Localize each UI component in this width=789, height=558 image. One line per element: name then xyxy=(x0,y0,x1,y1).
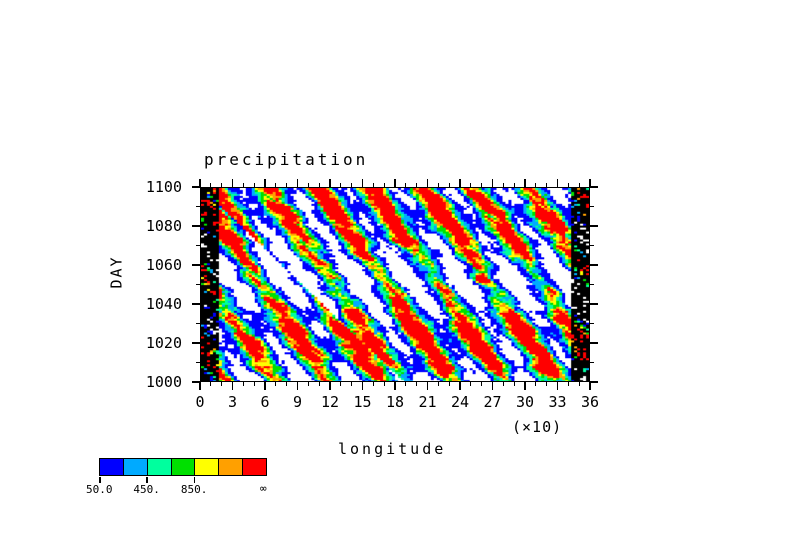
x-tick-minor xyxy=(308,382,309,386)
x-tick-minor-top xyxy=(210,183,211,187)
x-tick-major xyxy=(394,382,396,390)
x-tick-major xyxy=(297,382,299,390)
y-tick-major xyxy=(192,186,200,188)
y-tick-major-right xyxy=(590,342,598,344)
x-tick-major xyxy=(557,382,559,390)
x-tick-major-top xyxy=(524,179,526,187)
y-tick-minor xyxy=(196,284,200,285)
x-tick-major-top xyxy=(394,179,396,187)
y-tick-minor-right xyxy=(590,323,594,324)
y-tick-label: 1000 xyxy=(112,373,182,391)
x-tick-minor xyxy=(470,382,471,386)
y-tick-major-right xyxy=(590,264,598,266)
y-tick-major xyxy=(192,342,200,344)
x-tick-major xyxy=(199,382,201,390)
x-tick-minor-top xyxy=(568,183,569,187)
x-tick-minor xyxy=(481,382,482,386)
y-tick-minor xyxy=(196,362,200,363)
precipitation-heatmap xyxy=(201,188,589,381)
x-tick-minor xyxy=(503,382,504,386)
y-tick-major-right xyxy=(590,303,598,305)
x-tick-minor xyxy=(449,382,450,386)
x-tick-major xyxy=(492,382,494,390)
x-tick-minor-top xyxy=(254,183,255,187)
y-tick-major xyxy=(192,303,200,305)
colorbar-group: 50.0450.850.∞ xyxy=(99,458,267,476)
x-tick-minor-top xyxy=(546,183,547,187)
x-tick-minor xyxy=(416,382,417,386)
x-tick-minor-top xyxy=(438,183,439,187)
colorbar-swatch-0 xyxy=(100,459,123,475)
colorbar-swatch-5 xyxy=(218,459,242,475)
x-tick-minor xyxy=(210,382,211,386)
x-tick-minor-top xyxy=(275,183,276,187)
x-tick-minor-top xyxy=(579,183,580,187)
y-tick-major xyxy=(192,225,200,227)
x-tick-major-top xyxy=(427,179,429,187)
x-tick-minor-top xyxy=(384,183,385,187)
x-tick-major xyxy=(264,382,266,390)
y-tick-label: 1100 xyxy=(112,178,182,196)
x-tick-minor-top xyxy=(340,183,341,187)
colorbar-infinity-label: ∞ xyxy=(260,482,267,495)
x-tick-minor xyxy=(405,382,406,386)
x-tick-minor-top xyxy=(221,183,222,187)
y-tick-minor xyxy=(196,323,200,324)
x-tick-minor xyxy=(243,382,244,386)
x-tick-minor-top xyxy=(319,183,320,187)
x-axis-title: longitude xyxy=(338,440,446,458)
x-tick-major-top xyxy=(264,179,266,187)
x-tick-minor xyxy=(351,382,352,386)
y-tick-minor xyxy=(196,245,200,246)
x-tick-minor xyxy=(579,382,580,386)
x-tick-major xyxy=(524,382,526,390)
x-tick-major xyxy=(459,382,461,390)
x-tick-minor-top xyxy=(535,183,536,187)
x-tick-major-top xyxy=(232,179,234,187)
plot-area xyxy=(200,187,590,382)
y-axis-title: DAY xyxy=(108,255,126,288)
x-tick-minor-top xyxy=(286,183,287,187)
y-tick-minor-right xyxy=(590,206,594,207)
x-tick-minor xyxy=(568,382,569,386)
y-tick-major xyxy=(192,264,200,266)
colorbar-swatch-6 xyxy=(242,459,266,475)
x-tick-minor xyxy=(254,382,255,386)
x-tick-minor-top xyxy=(481,183,482,187)
y-tick-minor-right xyxy=(590,362,594,363)
x-tick-minor xyxy=(340,382,341,386)
x-tick-minor xyxy=(535,382,536,386)
x-tick-major-top xyxy=(297,179,299,187)
x-tick-major-top xyxy=(362,179,364,187)
x-tick-major xyxy=(589,382,591,390)
x-tick-major xyxy=(329,382,331,390)
x-axis-multiplier: (×10) xyxy=(512,418,562,436)
x-tick-minor xyxy=(373,382,374,386)
x-tick-minor xyxy=(438,382,439,386)
colorbar-label: 450. xyxy=(133,483,160,496)
y-tick-minor-right xyxy=(590,245,594,246)
x-tick-minor-top xyxy=(405,183,406,187)
y-tick-major-right xyxy=(590,186,598,188)
y-tick-major-right xyxy=(590,225,598,227)
colorbar-swatch-3 xyxy=(171,459,195,475)
x-tick-minor-top xyxy=(243,183,244,187)
x-tick-major xyxy=(362,382,364,390)
colorbar xyxy=(99,458,267,476)
y-tick-label: 1080 xyxy=(112,217,182,235)
y-tick-label: 1040 xyxy=(112,295,182,313)
x-tick-minor xyxy=(319,382,320,386)
x-tick-minor-top xyxy=(503,183,504,187)
y-tick-minor xyxy=(196,206,200,207)
colorbar-label: 50.0 xyxy=(86,483,113,496)
x-tick-major-top xyxy=(329,179,331,187)
x-tick-minor xyxy=(275,382,276,386)
x-tick-minor-top xyxy=(351,183,352,187)
x-tick-minor xyxy=(514,382,515,386)
y-tick-label: 1020 xyxy=(112,334,182,352)
y-tick-minor-right xyxy=(590,284,594,285)
x-tick-label: 36 xyxy=(570,393,610,411)
colorbar-swatch-4 xyxy=(194,459,218,475)
x-tick-minor-top xyxy=(470,183,471,187)
x-tick-minor-top xyxy=(416,183,417,187)
x-tick-minor-top xyxy=(514,183,515,187)
colorbar-swatch-1 xyxy=(123,459,147,475)
x-tick-major xyxy=(427,382,429,390)
x-tick-minor xyxy=(546,382,547,386)
x-tick-minor xyxy=(221,382,222,386)
x-tick-minor-top xyxy=(373,183,374,187)
chart-title: precipitation xyxy=(204,150,368,169)
y-tick-major xyxy=(192,381,200,383)
x-tick-major-top xyxy=(492,179,494,187)
y-tick-major-right xyxy=(590,381,598,383)
colorbar-swatch-2 xyxy=(147,459,171,475)
x-tick-major-top xyxy=(459,179,461,187)
x-tick-major-top xyxy=(557,179,559,187)
x-tick-minor xyxy=(384,382,385,386)
x-tick-minor-top xyxy=(449,183,450,187)
x-tick-minor xyxy=(286,382,287,386)
x-tick-major xyxy=(232,382,234,390)
colorbar-label: 850. xyxy=(181,483,208,496)
x-tick-minor-top xyxy=(308,183,309,187)
